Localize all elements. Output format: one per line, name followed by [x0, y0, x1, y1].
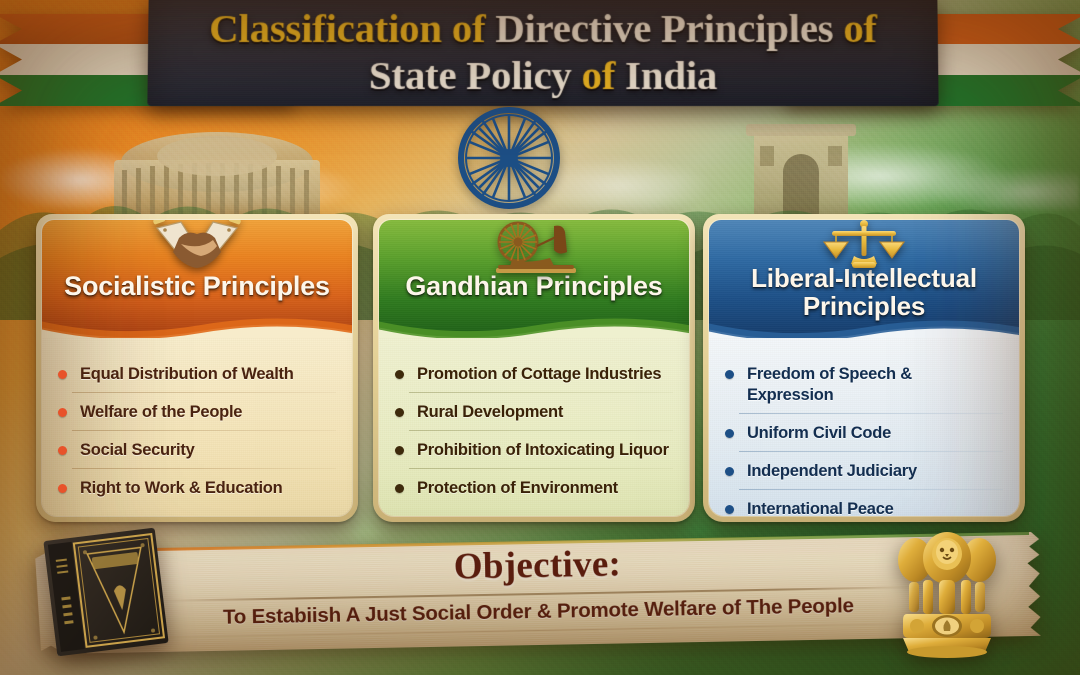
list-item: Independent Judiciary: [723, 461, 1005, 490]
title-word-of-3: of: [572, 52, 626, 98]
list-item: Social Security: [56, 440, 338, 469]
list-item: Prohibition of Intoxicating Liquor: [393, 440, 675, 469]
card-header-socialistic: Socialistic Principles: [42, 220, 352, 342]
title-word-of-1: of: [442, 5, 496, 51]
list-item: Protection of Environment: [393, 478, 675, 507]
list-item: Promotion of Cottage Industries: [393, 364, 675, 393]
card-socialistic-principles[interactable]: Socialistic Principles Equal Distributio…: [36, 214, 358, 522]
infographic-poster: Classification of Directive Principles o…: [0, 0, 1080, 675]
card-body-gandhian: Promotion of Cottage Industries Rural De…: [379, 338, 689, 516]
card-body-socialistic: Equal Distribution of Wealth Welfare of …: [42, 338, 352, 516]
charkha-spinning-wheel-icon: [488, 219, 580, 280]
principles-card-row: Socialistic Principles Equal Distributio…: [0, 214, 1080, 524]
list-item: Freedom of Speech & Expression: [723, 364, 1005, 414]
title-word-classification: Classification: [209, 5, 442, 51]
list-item: Right to Work & Education: [56, 478, 338, 507]
page-title-line-2: State Policy of India: [369, 52, 717, 99]
list-item: International Peace: [723, 499, 1005, 517]
title-word-india: India: [625, 52, 717, 98]
poster-title-panel: Classification of Directive Principles o…: [147, 0, 938, 106]
list-item: Welfare of the People: [56, 402, 338, 431]
ashoka-lion-capital-icon: [893, 524, 1001, 662]
card-liberal-intellectual-principles[interactable]: Liberal-Intellectual Principles Freedom …: [703, 214, 1025, 522]
card-body-liberal-intellectual: Freedom of Speech & Expression Uniform C…: [709, 338, 1019, 516]
list-socialistic-principles: Equal Distribution of Wealth Welfare of …: [56, 364, 338, 507]
constitution-of-india-book-icon: [39, 523, 173, 661]
list-item: Rural Development: [393, 402, 675, 431]
list-item: Equal Distribution of Wealth: [56, 364, 338, 393]
page-title-line-1: Classification of Directive Principles o…: [209, 5, 877, 52]
card-gandhian-principles[interactable]: Gandhian Principles Promotion of Cottage…: [373, 214, 695, 522]
title-word-state-policy: State Policy: [369, 52, 572, 98]
handshake-icon: [151, 219, 243, 280]
title-word-of-2: of: [833, 5, 877, 51]
title-word-directive-principles: Directive Principles: [495, 5, 833, 51]
card-header-liberal-intellectual: Liberal-Intellectual Principles: [709, 220, 1019, 342]
card-header-gandhian: Gandhian Principles: [379, 220, 689, 342]
objective-banner: Objective: To Estabiish A Just Social Or…: [35, 532, 1041, 654]
list-gandhian-principles: Promotion of Cottage Industries Rural De…: [393, 364, 675, 507]
scales-of-justice-icon: [818, 219, 910, 280]
ashoka-chakra-icon: [455, 104, 563, 212]
list-liberal-intellectual-principles: Freedom of Speech & Expression Uniform C…: [723, 364, 1005, 517]
list-item: Uniform Civil Code: [723, 423, 1005, 452]
